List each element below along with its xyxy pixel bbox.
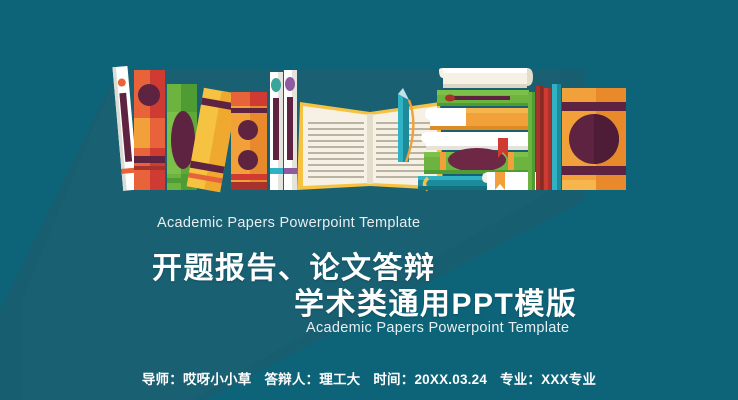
meta-advisor: 导师：哎呀小小草 bbox=[142, 368, 252, 388]
meta-major-value: XXX专业 bbox=[541, 372, 596, 387]
book-thin-red bbox=[544, 88, 551, 190]
stack-book-white bbox=[421, 132, 530, 150]
book-white-thin-purple-cap bbox=[284, 70, 297, 190]
book-orange-large-circle bbox=[562, 88, 626, 190]
meta-bar: 导师：哎呀小小草答辩人：理工大时间：20XX.03.24专业：XXX专业 bbox=[0, 368, 738, 388]
book-red-orange-circle bbox=[134, 70, 165, 190]
meta-date-value: 20XX.03.24 bbox=[414, 372, 487, 387]
meta-date: 时间：20XX.03.24 bbox=[373, 368, 487, 388]
meta-presenter-value: 理工大 bbox=[319, 372, 360, 387]
meta-presenter: 答辩人：理工大 bbox=[264, 368, 360, 388]
book-stack bbox=[418, 68, 536, 190]
stack-book-green bbox=[437, 90, 529, 106]
meta-major-label: 专业： bbox=[500, 372, 541, 387]
meta-presenter-label: 答辩人： bbox=[264, 372, 319, 387]
meta-major: 专业：XXX专业 bbox=[500, 368, 596, 388]
subtitle-bottom: Academic Papers Powerpoint Template bbox=[306, 320, 569, 336]
meta-date-label: 时间： bbox=[373, 372, 414, 387]
book-thin-green bbox=[528, 92, 535, 190]
stack-book-cream-top bbox=[439, 68, 533, 88]
books-illustration bbox=[0, 0, 738, 400]
book-white-thin-green-cap bbox=[270, 72, 283, 190]
book-orange-two-circles bbox=[231, 92, 267, 190]
title-line-2: 学术类通用PPT模版 bbox=[294, 279, 577, 323]
subtitle-top: Academic Papers Powerpoint Template bbox=[157, 215, 420, 231]
book-thin-cyan bbox=[552, 84, 561, 190]
stack-book-orange bbox=[425, 108, 530, 130]
right-shelf-books bbox=[528, 84, 626, 190]
meta-advisor-label: 导师： bbox=[142, 372, 183, 387]
open-book bbox=[297, 88, 443, 190]
book-thin-dark-red bbox=[536, 86, 543, 190]
presentation-slide: Academic Papers Powerpoint Template 开题报告… bbox=[0, 0, 738, 400]
left-shelf-books bbox=[112, 66, 297, 192]
stack-book-white-ribbon bbox=[482, 172, 536, 190]
meta-advisor-value: 哎呀小小草 bbox=[183, 372, 252, 387]
